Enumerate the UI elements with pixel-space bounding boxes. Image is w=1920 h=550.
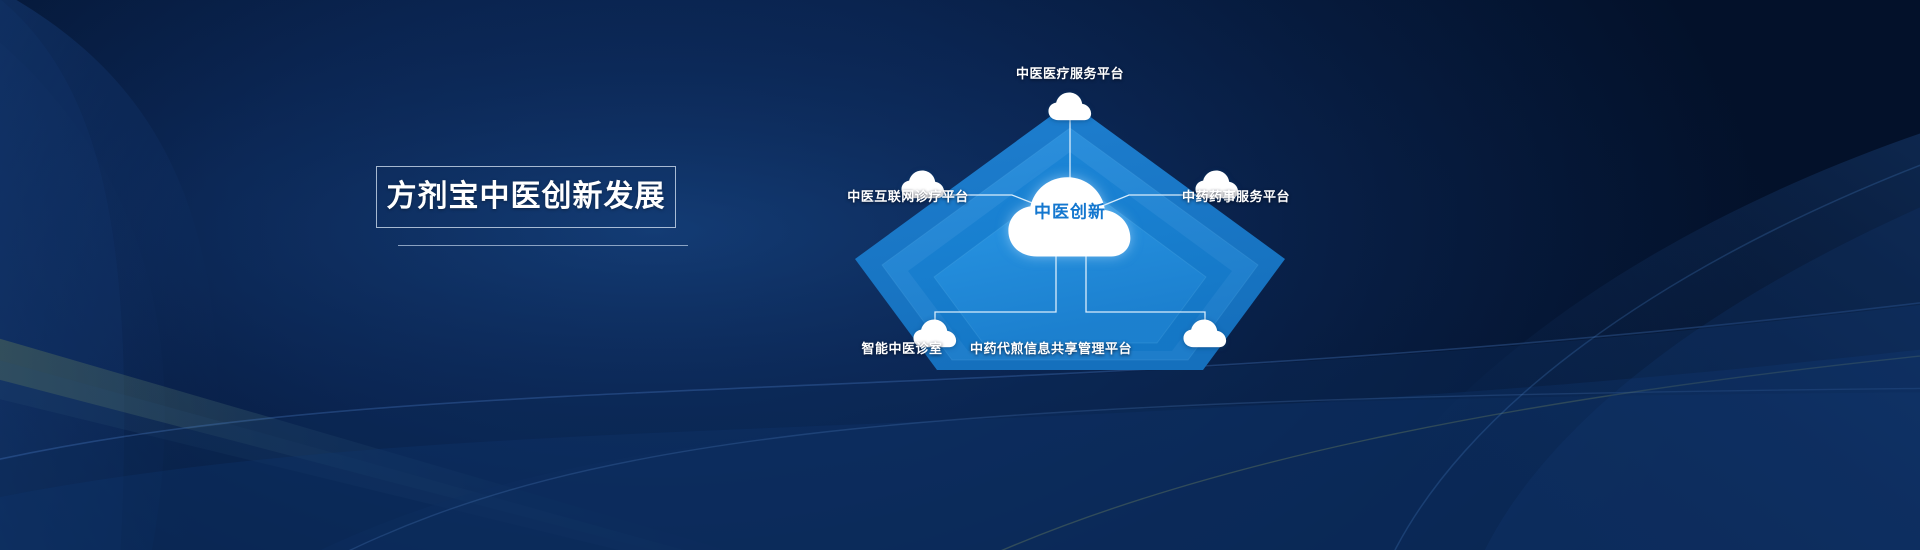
page-title: 方剂宝中医创新发展 bbox=[387, 182, 666, 212]
title-frame: 方剂宝中医创新发展 bbox=[376, 166, 676, 228]
node-label-right: 中药药事服务平台 bbox=[1182, 190, 1290, 203]
cloud-icon-top bbox=[1048, 92, 1091, 120]
node-label-left: 中医互联网诊疗平台 bbox=[847, 190, 969, 203]
title-underline bbox=[398, 245, 688, 246]
node-label-bottom-left: 智能中医诊室 bbox=[861, 342, 942, 355]
center-node-label: 中医创新 bbox=[1034, 204, 1106, 221]
title-block: 方剂宝中医创新发展 bbox=[376, 166, 676, 228]
hero-banner: 方剂宝中医创新发展 bbox=[0, 0, 1920, 550]
node-label-bottom-right: 中药代煎信息共享管理平台 bbox=[970, 342, 1132, 355]
pentagon-diagram: 中医医疗服务平台 中医互联网诊疗平台 中药药事服务平台 智能中医诊室 中药代煎信… bbox=[760, 40, 1380, 380]
node-label-top: 中医医疗服务平台 bbox=[1016, 67, 1124, 80]
